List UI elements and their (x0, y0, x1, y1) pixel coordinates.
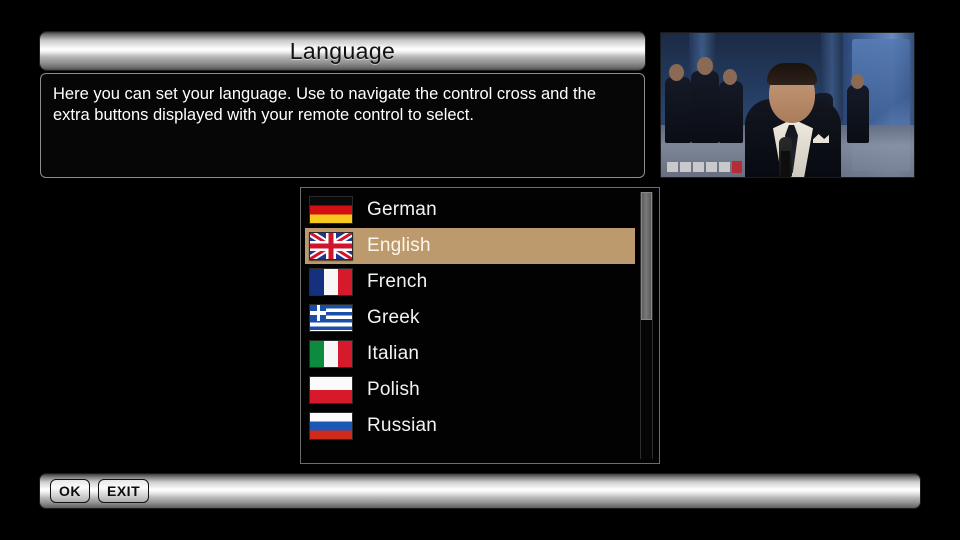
language-list-item-label: Polish (367, 379, 420, 401)
language-list-item[interactable]: English (305, 228, 635, 264)
logo-block (667, 162, 678, 172)
flag-italy-icon (309, 340, 353, 368)
logo-block (706, 162, 717, 172)
language-list-item[interactable]: Russian (305, 408, 635, 444)
language-list-item[interactable]: Greek (305, 300, 635, 336)
language-list-item[interactable]: Polish (305, 372, 635, 408)
list-scrollbar-thumb[interactable] (641, 192, 652, 320)
preview-crowd-head (697, 57, 713, 75)
ok-button-label: OK (59, 483, 81, 499)
logo-block (693, 162, 704, 172)
preview-crowd-person (847, 85, 869, 143)
exit-button[interactable]: EXIT (98, 479, 149, 503)
preview-crowd-person (665, 77, 691, 143)
help-description-box: Here you can set your language. Use to n… (40, 73, 645, 178)
softkey-bar: OKEXIT (40, 474, 920, 508)
flag-germany-icon (309, 196, 353, 224)
language-list-item[interactable]: French (305, 264, 635, 300)
language-list-item-label: German (367, 199, 437, 221)
logo-accent (732, 161, 742, 173)
language-list-panel[interactable]: GermanEnglishFrenchGreekItalianPolishRus… (300, 187, 660, 464)
language-list-item-label: Russian (367, 415, 437, 437)
preview-reporter-hair (767, 63, 817, 85)
language-list-item-label: Italian (367, 343, 419, 365)
flag-france-icon (309, 268, 353, 296)
list-scrollbar[interactable] (640, 192, 653, 459)
language-list: GermanEnglishFrenchGreekItalianPolishRus… (305, 192, 635, 459)
help-description-text: Here you can set your language. Use to n… (53, 84, 632, 126)
preview-crowd-head (723, 69, 737, 85)
page-title: Language (290, 38, 396, 65)
language-list-item[interactable]: Italian (305, 336, 635, 372)
flag-stripe (329, 233, 334, 259)
flag-greece-icon (309, 304, 353, 332)
language-list-item-label: Greek (367, 307, 420, 329)
preview-crowd-person (691, 71, 719, 143)
language-list-item-label: English (367, 235, 431, 257)
tv-osd-screen: Language Here you can set your language.… (0, 0, 960, 540)
flag-canton (310, 311, 326, 314)
preview-crowd-head (851, 74, 864, 89)
language-list-item[interactable]: German (305, 192, 635, 228)
flag-russia-icon (309, 412, 353, 440)
language-list-item-label: French (367, 271, 427, 293)
exit-button-label: EXIT (107, 483, 140, 499)
preview-microphone-handle (781, 151, 790, 177)
preview-crowd-person (719, 81, 743, 143)
ok-button[interactable]: OK (50, 479, 90, 503)
logo-block (680, 162, 691, 172)
flag-united-kingdom-icon (309, 232, 353, 260)
preview-crowd-head (669, 64, 684, 81)
live-tv-preview[interactable] (660, 32, 915, 178)
logo-block (719, 162, 730, 172)
broadcaster-logo-watermark (667, 161, 753, 173)
window-title-bar: Language (40, 32, 645, 70)
flag-poland-icon (309, 376, 353, 404)
